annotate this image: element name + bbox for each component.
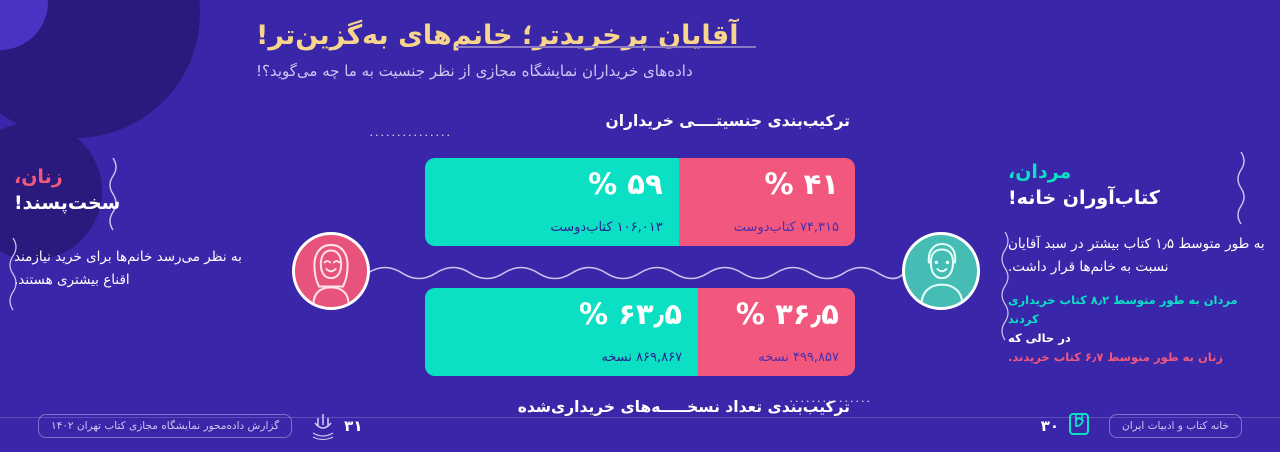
right-heading-highlight: مردان، bbox=[1008, 161, 1071, 183]
footer-right-text: خانه کتاب و ادبیات ایران bbox=[1122, 420, 1229, 432]
segment-count: ۷۴,۳۱۵ کتاب‌دوست bbox=[734, 220, 839, 235]
iran-emblem-icon bbox=[310, 411, 336, 441]
copies-composition-bar: ۳۶٫۵ % ۴۹۹,۸۵۷ نسخه ۶۳٫۵ % ۸۶۹,۸۶۷ نسخه bbox=[425, 288, 855, 376]
gender-composition-bar: ۴۱ % ۷۴,۳۱۵ کتاب‌دوست ۵۹ % ۱۰۶,۰۱۳ کتاب‌… bbox=[425, 158, 855, 246]
right-panel-note: مردان به طور متوسط ۸٫۲ کتاب خریداری کردن… bbox=[1008, 291, 1266, 367]
segment-count: ۱۰۶,۰۱۳ کتاب‌دوست bbox=[551, 220, 663, 235]
footer-right: خانه کتاب و ادبیات ایران ۳۰ bbox=[1041, 400, 1252, 452]
book-house-logo-icon bbox=[1067, 410, 1091, 438]
bar-segment-women-buyers: ۴۱ % ۷۴,۳۱۵ کتاب‌دوست bbox=[679, 158, 855, 246]
note-men-average: مردان به طور متوسط ۸٫۲ کتاب خریداری کردن… bbox=[1008, 291, 1266, 329]
footer-left: ۳۱ گزارش داده‌محور نمایشگاه مجازی کتاب ت… bbox=[28, 400, 362, 452]
segment-count: ۴۹۹,۸۵۷ نسخه bbox=[758, 350, 839, 365]
male-face-icon bbox=[905, 232, 977, 307]
segment-percent: ۳۶٫۵ % bbox=[714, 300, 839, 329]
right-panel-heading: مردان، کتاب‌آوران خانه! bbox=[1008, 160, 1266, 211]
note-women-average: زنان به طور متوسط ۶٫۷ کتاب خریدند. bbox=[1008, 348, 1266, 367]
wavy-connector bbox=[368, 262, 904, 284]
left-panel-heading: زنان، سخت‌پسند! bbox=[14, 165, 272, 216]
right-panel-body: به طور متوسط ۱٫۵ کتاب بیشتر در سبد آقایا… bbox=[1008, 233, 1266, 279]
background-circle-large bbox=[0, 0, 200, 138]
page-number-right: ۳۰ bbox=[1041, 417, 1059, 435]
left-panel: زنان، سخت‌پسند! به نظر می‌رسد خانم‌ها بر… bbox=[14, 165, 272, 292]
bar-segment-women-copies: ۳۶٫۵ % ۴۹۹,۸۵۷ نسخه bbox=[698, 288, 855, 376]
publisher-logo bbox=[1059, 410, 1099, 442]
segment-percent: ۵۹ % bbox=[441, 170, 663, 199]
right-heading-rest: کتاب‌آوران خانه! bbox=[1008, 187, 1160, 209]
note-connector: در حالی که bbox=[1008, 329, 1266, 348]
segment-count: ۸۶۹,۸۶۷ نسخه bbox=[601, 350, 682, 365]
female-hijab-avatar bbox=[292, 232, 370, 310]
background-circle-small bbox=[0, 0, 48, 50]
left-heading-rest: سخت‌پسند! bbox=[14, 192, 120, 214]
top-caption-dots: ............... bbox=[370, 126, 452, 139]
footer-left-text: گزارش داده‌محور نمایشگاه مجازی کتاب تهرا… bbox=[51, 420, 279, 432]
title-rule bbox=[456, 46, 756, 48]
left-panel-body: به نظر می‌رسد خانم‌ها برای خرید نیازمند … bbox=[14, 246, 272, 292]
segment-percent: ۶۳٫۵ % bbox=[441, 300, 682, 329]
header: آقایان پرخریدتر؛ خانم‌های به‌گزین‌تر! دا… bbox=[256, 20, 1256, 82]
segment-percent: ۴۱ % bbox=[695, 170, 839, 199]
right-panel: مردان، کتاب‌آوران خانه! به طور متوسط ۱٫۵… bbox=[1008, 160, 1266, 367]
page-number-left: ۳۱ bbox=[344, 417, 362, 435]
footer-right-box: خانه کتاب و ادبیات ایران bbox=[1109, 414, 1242, 438]
footer-left-box: گزارش داده‌محور نمایشگاه مجازی کتاب تهرا… bbox=[38, 414, 292, 438]
bar-segment-men-copies: ۶۳٫۵ % ۸۶۹,۸۶۷ نسخه bbox=[425, 288, 698, 376]
male-avatar bbox=[902, 232, 980, 310]
bar-segment-men-buyers: ۵۹ % ۱۰۶,۰۱۳ کتاب‌دوست bbox=[425, 158, 679, 246]
female-hijab-icon bbox=[295, 232, 367, 307]
left-heading-highlight: زنان، bbox=[14, 166, 63, 188]
top-chart-caption: ترکیب‌بندی جنسیتــــی خریداران bbox=[606, 112, 850, 130]
page-subtitle: داده‌های خریداران نمایشگاه مجازی از نظر … bbox=[256, 61, 1256, 82]
bottom-caption-dots: ............... bbox=[790, 392, 872, 405]
